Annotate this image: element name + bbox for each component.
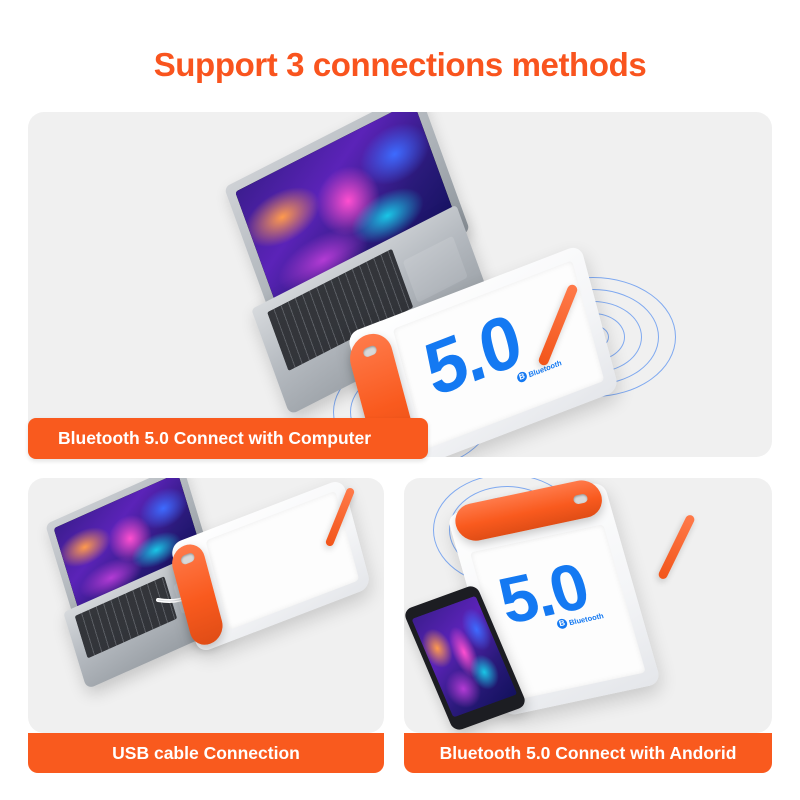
tablet-erase-button[interactable]	[362, 344, 377, 358]
tablet-version-label: 5.0	[418, 302, 528, 409]
panel-bluetooth-android: 5.0 B Bluetooth	[404, 478, 772, 733]
tablet-erase-button-android[interactable]	[572, 493, 588, 505]
scene-bluetooth-computer: 5.0 B Bluetooth	[28, 112, 772, 457]
panel-label-bluetooth-android: Bluetooth 5.0 Connect with Andorid	[404, 733, 772, 773]
scene-usb-cable	[28, 478, 384, 733]
panel-label-bluetooth-computer: Bluetooth 5.0 Connect with Computer	[28, 418, 428, 459]
page-title: Support 3 connections methods	[0, 46, 800, 84]
panel-label-usb-cable: USB cable Connection	[28, 733, 384, 773]
panel-usb-cable	[28, 478, 384, 733]
tablet-erase-button-usb[interactable]	[180, 552, 195, 566]
scene-bluetooth-android: 5.0 B Bluetooth	[404, 478, 772, 733]
bluetooth-badge-icon-android: B	[556, 618, 569, 630]
panel-bluetooth-computer: 5.0 B Bluetooth	[28, 112, 772, 457]
stylus-pen-android	[657, 514, 696, 581]
bluetooth-badge-icon: B	[516, 370, 528, 383]
